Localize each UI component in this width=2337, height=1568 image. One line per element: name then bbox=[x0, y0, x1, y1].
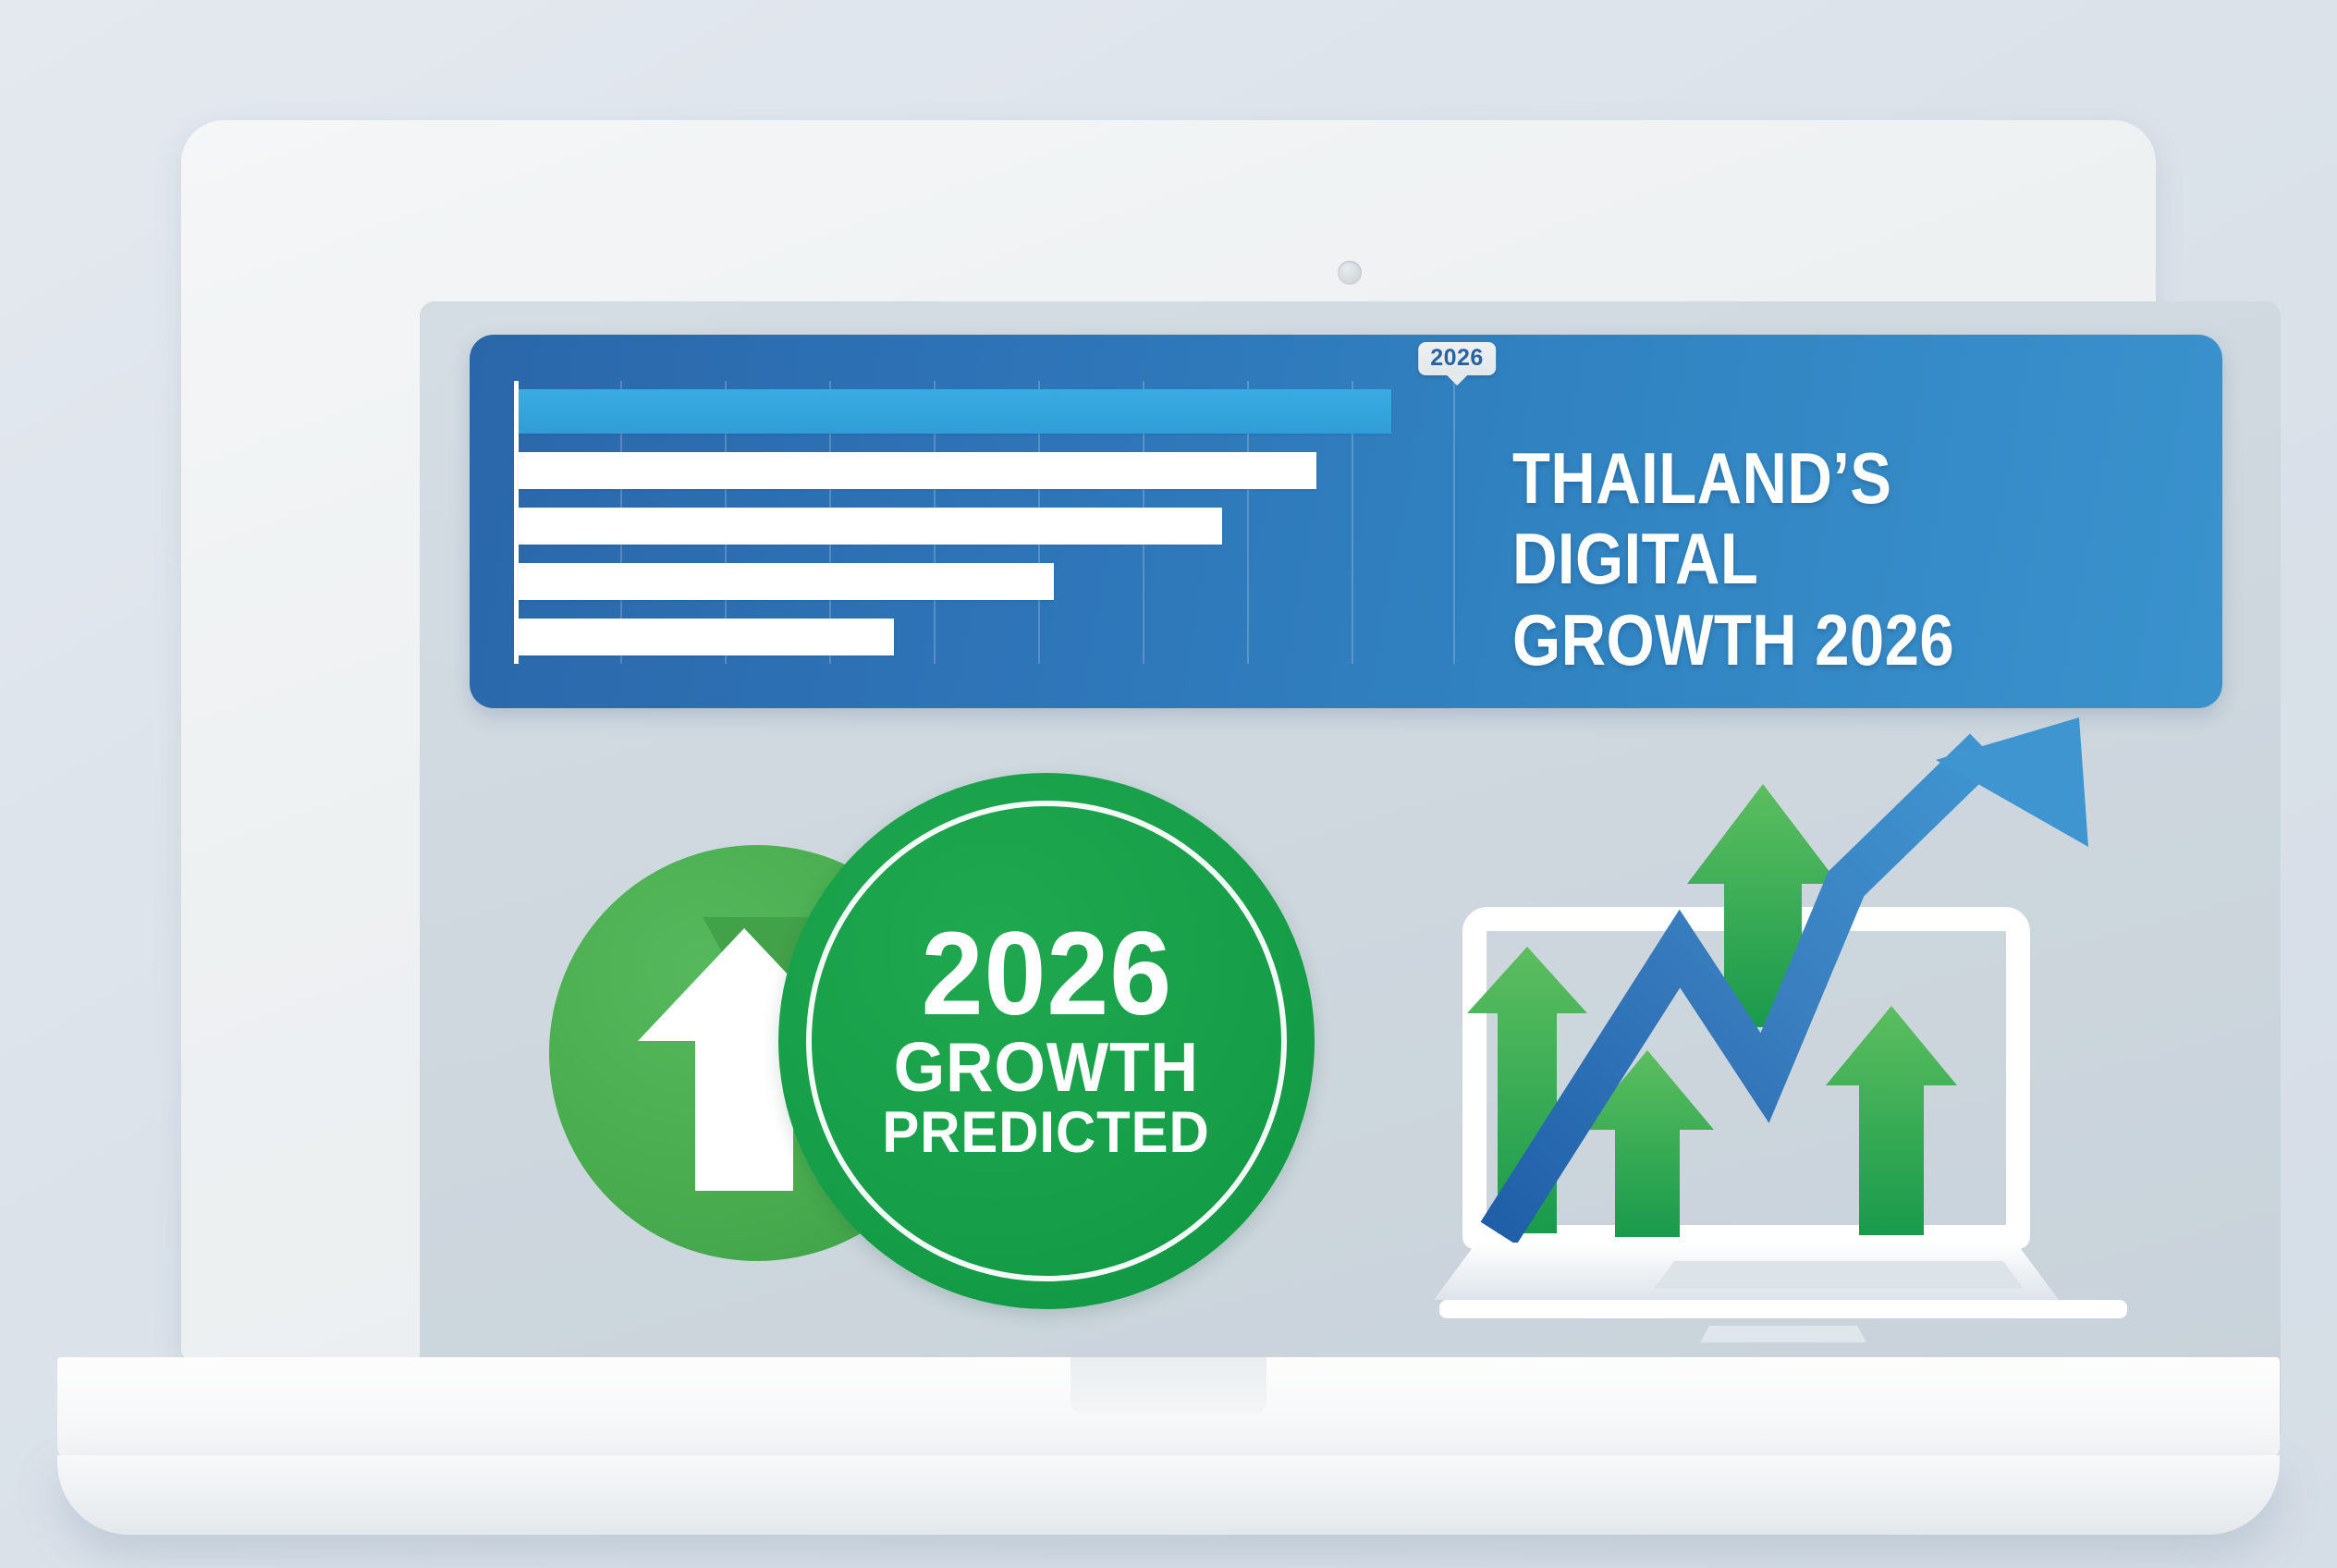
webcam-icon bbox=[1338, 261, 1362, 285]
bar-item-highlighted[interactable]: 2026 bbox=[519, 389, 1391, 434]
blue-trend-arrow-icon bbox=[1499, 717, 2088, 1233]
badge-year: 2026 bbox=[921, 918, 1171, 1032]
bar-chart: 2026 bbox=[514, 381, 1457, 664]
banner-title-line-1: THAILAND’S DIGITAL bbox=[1512, 438, 2100, 600]
bar-item[interactable] bbox=[519, 452, 1316, 489]
illustration-laptop-base bbox=[1434, 1243, 2127, 1342]
screenshot-canvas: 2026 THAILAND’S DIGITAL GROWTH 2026 bbox=[0, 0, 2337, 1568]
bar-item[interactable] bbox=[519, 508, 1222, 545]
banner-panel: 2026 THAILAND’S DIGITAL GROWTH 2026 bbox=[470, 335, 2222, 708]
banner-title-line-2: GROWTH 2026 bbox=[1512, 600, 2100, 680]
bar-list: 2026 bbox=[519, 381, 1457, 664]
green-up-arrow-icon bbox=[1826, 1006, 1957, 1235]
badge-growth-label: GROWTH bbox=[894, 1032, 1199, 1103]
laptop-screen: 2026 THAILAND’S DIGITAL GROWTH 2026 bbox=[420, 301, 2281, 1437]
badge-predicted-label: PREDICTED bbox=[883, 1102, 1210, 1164]
banner-title: THAILAND’S DIGITAL GROWTH 2026 bbox=[1512, 438, 2100, 680]
laptop-lid: 2026 THAILAND’S DIGITAL GROWTH 2026 bbox=[181, 120, 2156, 1359]
growth-badge: 2026 GROWTH PREDICTED bbox=[549, 773, 1381, 1346]
laptop-growth-illustration bbox=[1432, 708, 2135, 1355]
laptop-base-lip bbox=[57, 1455, 2280, 1535]
laptop-growth-svg bbox=[1432, 708, 2135, 1355]
badge-text-block: 2026 GROWTH PREDICTED bbox=[778, 773, 1315, 1309]
bar-item[interactable] bbox=[519, 619, 894, 655]
bar-value-tooltip[interactable]: 2026 bbox=[1418, 342, 1496, 375]
bar-item[interactable] bbox=[519, 563, 1054, 600]
laptop-base-notch bbox=[1071, 1357, 1266, 1413]
